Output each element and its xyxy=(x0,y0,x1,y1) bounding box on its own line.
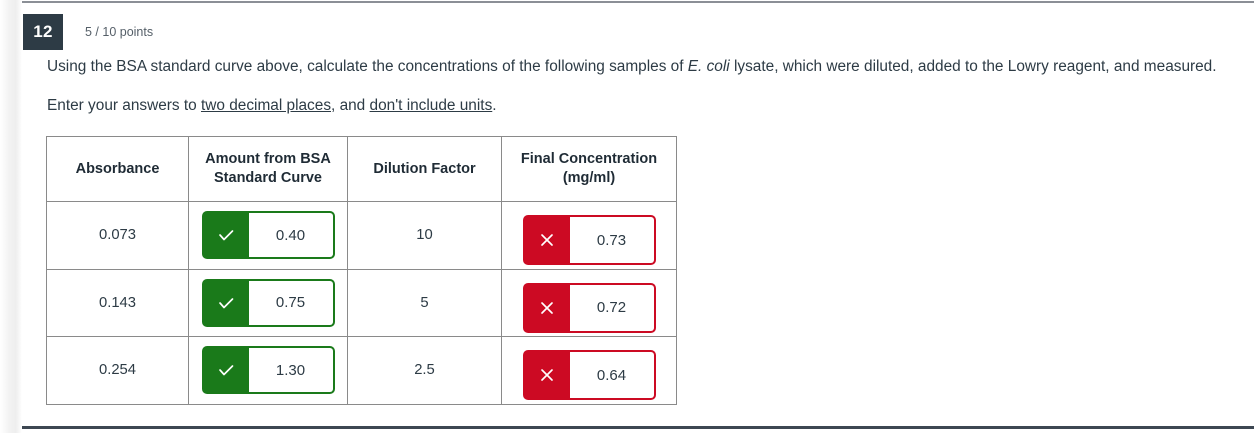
prompt-text-e: . xyxy=(492,97,496,114)
prompt-text-a: Using the BSA standard curve above, calc… xyxy=(47,58,688,75)
prompt-text-d: , and xyxy=(331,97,370,114)
graded-answer-correct[interactable]: 0.40 xyxy=(202,211,335,259)
question-content: 12 5 / 10 points Using the BSA standard … xyxy=(23,4,1254,425)
x-icon xyxy=(525,217,570,263)
cell-final: 0.73 xyxy=(502,202,677,270)
answer-value[interactable]: 0.75 xyxy=(249,281,333,325)
prompt-emphasis-decimals: two decimal places xyxy=(201,97,331,114)
cell-absorbance: 0.073 xyxy=(47,202,189,270)
answer-value[interactable]: 0.64 xyxy=(570,352,654,398)
question-points-label: 5 / 10 points xyxy=(85,25,153,39)
cell-dilution: 5 xyxy=(348,269,502,337)
column-header-final-line1: Final Concentration xyxy=(502,150,676,169)
cell-dilution: 10 xyxy=(348,202,502,270)
question-number-badge: 12 xyxy=(23,14,63,50)
graded-answer-correct[interactable]: 0.75 xyxy=(202,279,335,327)
cell-absorbance: 0.254 xyxy=(47,337,189,405)
cell-amount: 0.75 xyxy=(189,269,348,337)
table-row: 0.254 1.30 2.5 xyxy=(47,337,677,405)
prompt-species-name: E. coli xyxy=(688,58,730,75)
cell-amount: 0.40 xyxy=(189,202,348,270)
column-header-dilution: Dilution Factor xyxy=(348,137,502,202)
cell-amount: 1.30 xyxy=(189,337,348,405)
cell-dilution: 2.5 xyxy=(348,337,502,405)
bottom-divider xyxy=(22,426,1254,429)
prompt-text-c: Enter your answers to xyxy=(47,97,201,114)
top-divider xyxy=(22,1,1254,3)
page-frame: 12 5 / 10 points Using the BSA standard … xyxy=(0,0,1254,433)
column-header-amount: Amount from BSA Standard Curve xyxy=(189,137,348,202)
table-header-row: Absorbance Amount from BSA Standard Curv… xyxy=(47,137,677,202)
cell-absorbance: 0.143 xyxy=(47,269,189,337)
prompt-line-1: Using the BSA standard curve above, calc… xyxy=(47,56,1247,78)
column-header-amount-line2: Standard Curve xyxy=(189,169,347,188)
check-icon xyxy=(204,348,249,392)
check-icon xyxy=(204,213,249,257)
x-icon xyxy=(525,352,570,398)
answer-value[interactable]: 0.72 xyxy=(570,285,654,331)
answer-table: Absorbance Amount from BSA Standard Curv… xyxy=(46,136,677,405)
column-header-final-line2: (mg/ml) xyxy=(502,169,676,188)
answer-value[interactable]: 1.30 xyxy=(249,348,333,392)
prompt-line-2: Enter your answers to two decimal places… xyxy=(47,95,1247,117)
graded-answer-incorrect[interactable]: 0.72 xyxy=(523,283,656,333)
graded-answer-correct[interactable]: 1.30 xyxy=(202,346,335,394)
table-row: 0.143 0.75 5 xyxy=(47,269,677,337)
left-edge-shadow xyxy=(0,0,22,433)
cell-final: 0.72 xyxy=(502,269,677,337)
column-header-absorbance: Absorbance xyxy=(47,137,189,202)
graded-answer-incorrect[interactable]: 0.64 xyxy=(523,350,656,400)
x-icon xyxy=(525,285,570,331)
answer-value[interactable]: 0.73 xyxy=(570,217,654,263)
table-row: 0.073 0.40 10 xyxy=(47,202,677,270)
prompt-emphasis-units: don't include units xyxy=(370,97,493,114)
answer-value[interactable]: 0.40 xyxy=(249,213,333,257)
graded-answer-incorrect[interactable]: 0.73 xyxy=(523,215,656,265)
check-icon xyxy=(204,281,249,325)
column-header-amount-line1: Amount from BSA xyxy=(189,150,347,169)
prompt-text-b: lysate, which were diluted, added to the… xyxy=(730,58,1217,75)
question-prompt: Using the BSA standard curve above, calc… xyxy=(47,56,1247,117)
question-header: 12 5 / 10 points xyxy=(23,14,153,50)
cell-final: 0.64 xyxy=(502,337,677,405)
column-header-final: Final Concentration (mg/ml) xyxy=(502,137,677,202)
